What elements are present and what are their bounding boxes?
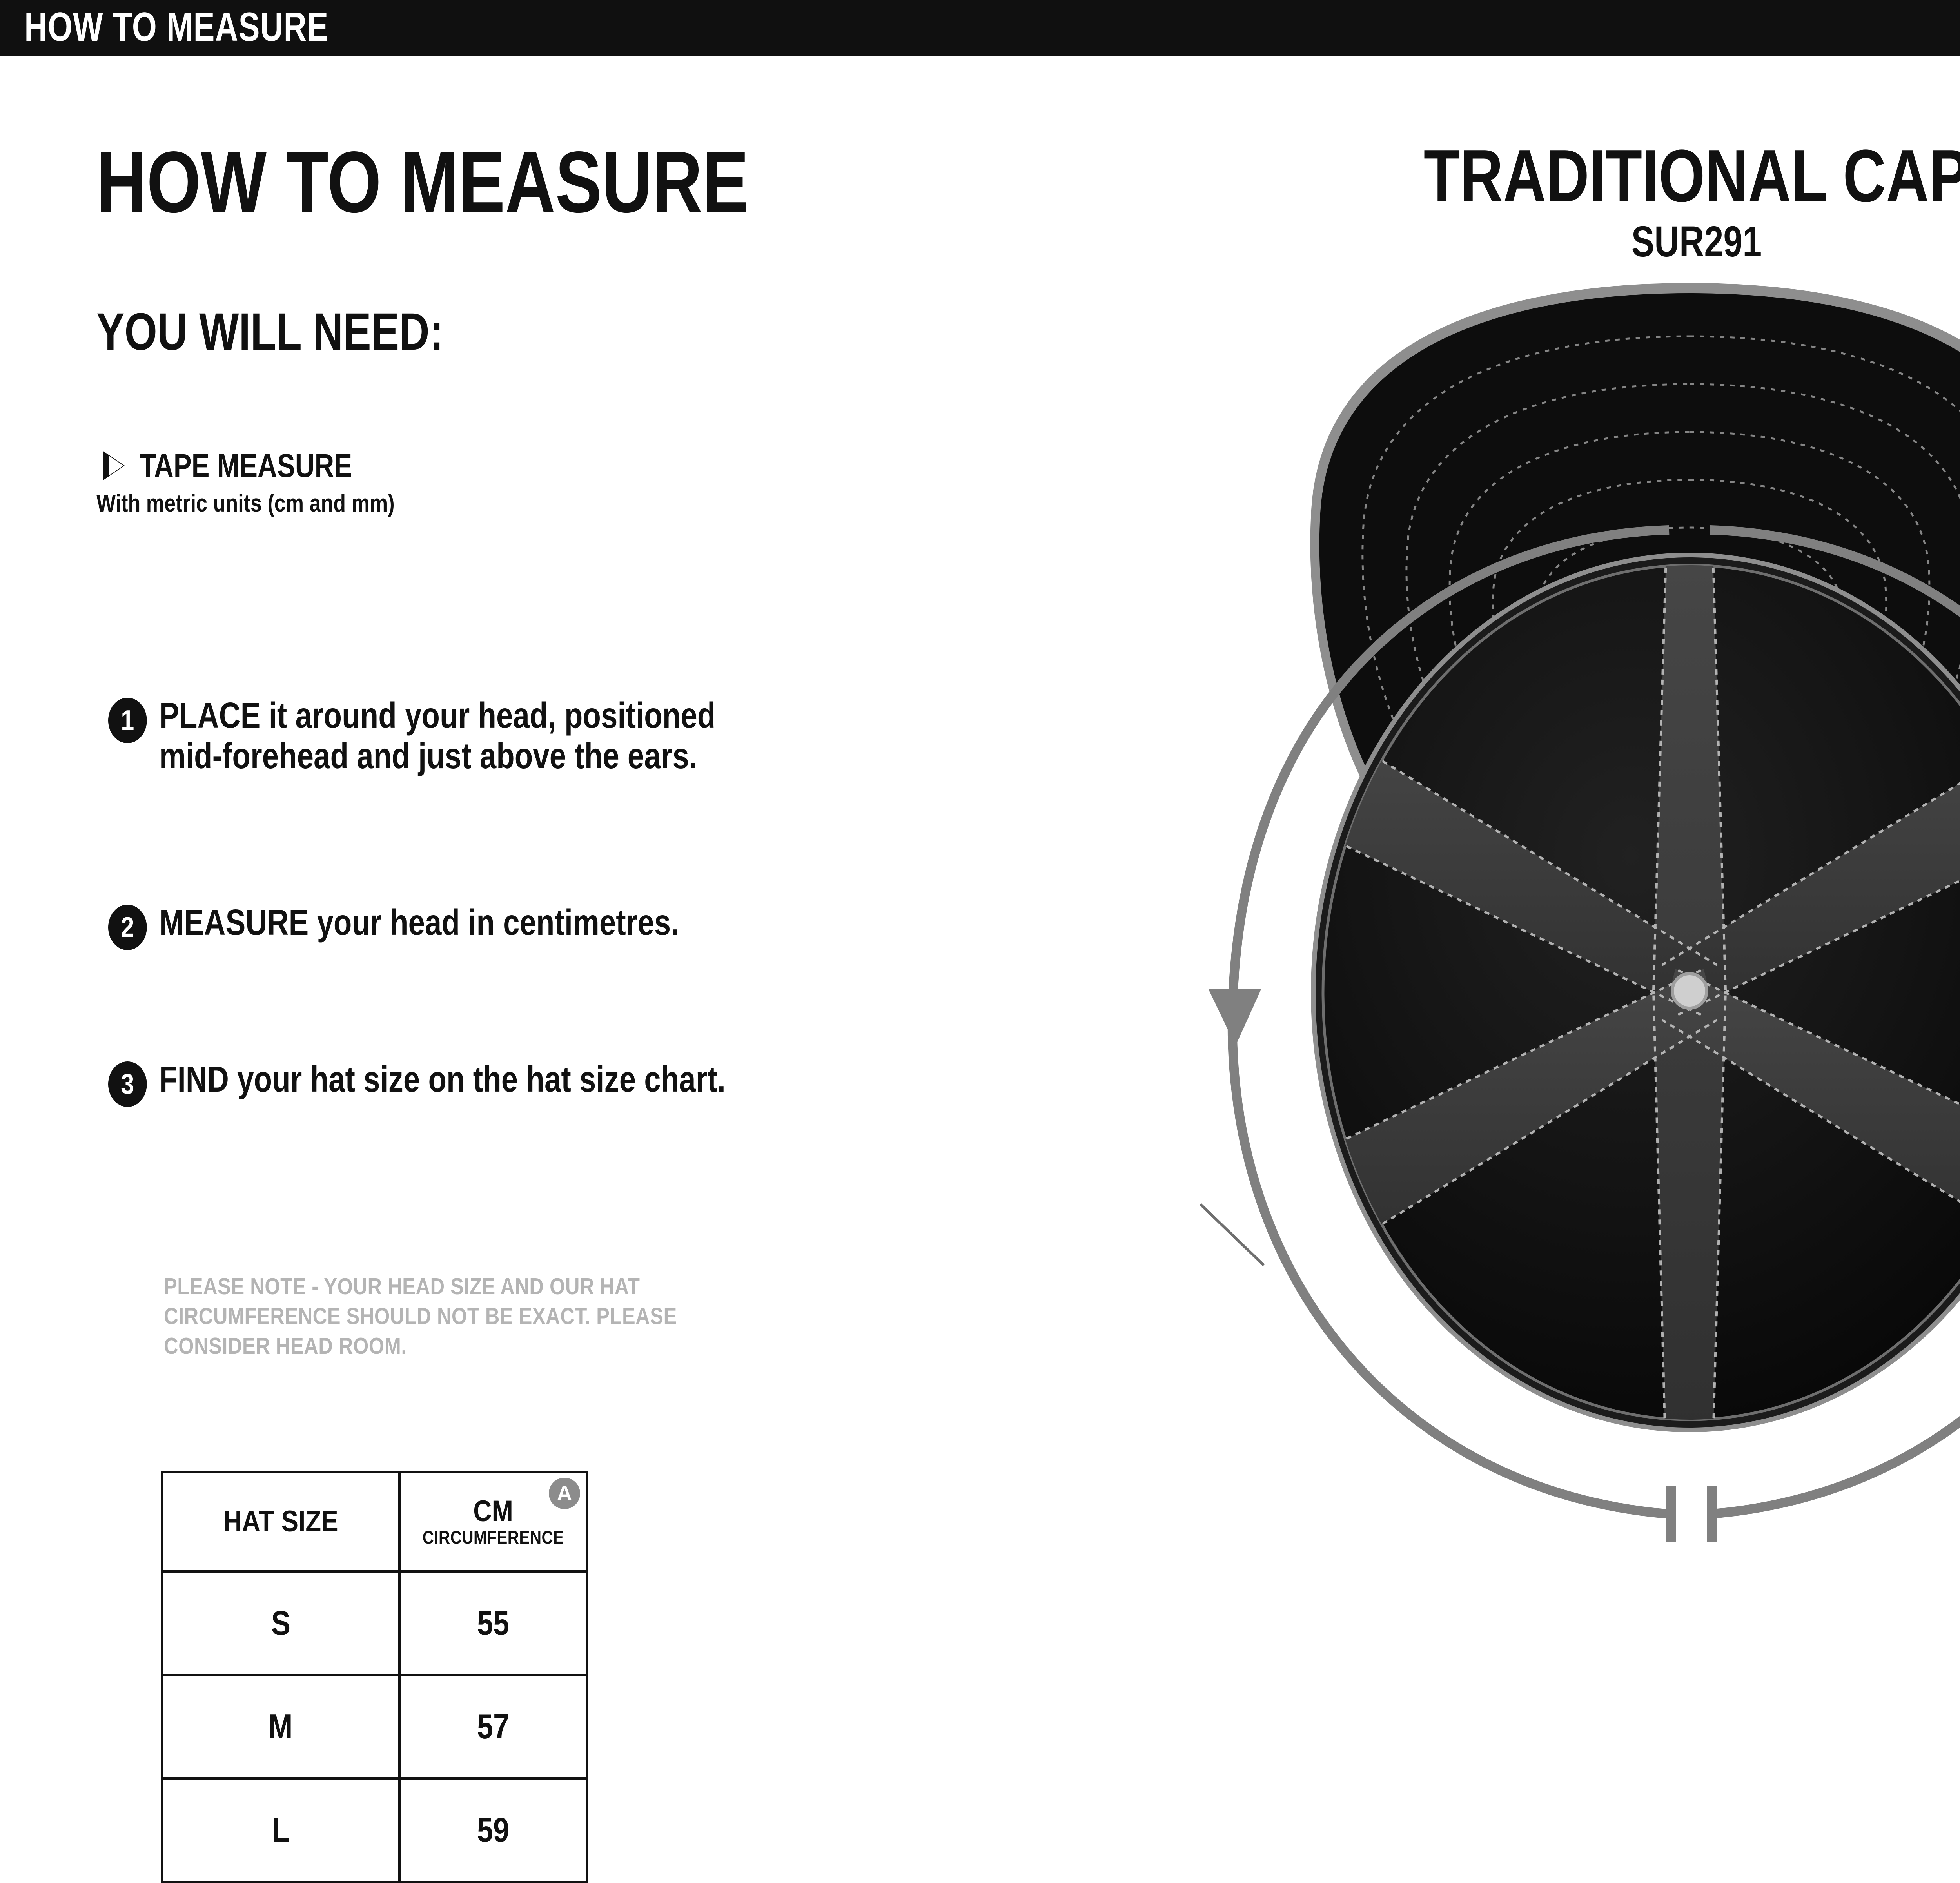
value-cm-s: 55 <box>477 1605 509 1641</box>
product-title: TRADITIONAL CAP <box>1078 139 1960 213</box>
you-will-need-heading: YOU WILL NEED: <box>96 306 443 358</box>
step-2-text: MEASURE your head in centimetres. <box>159 902 764 943</box>
top-bar-title: HOW TO MEASURE <box>24 7 329 47</box>
step-3-number: 3 <box>108 1061 147 1107</box>
cell-cm-m: 57 <box>399 1675 587 1778</box>
step-3-text: FIND your hat size on the hat size chart… <box>159 1059 764 1099</box>
instructions-column: HOW TO MEASURE YOU WILL NEED: TAPE MEASU… <box>0 56 1078 1827</box>
crown-button <box>1674 975 1705 1007</box>
table-header-row: HAT SIZE CM CIRCUMFERENCE A <box>162 1472 587 1571</box>
page-title: HOW TO MEASURE <box>96 139 749 226</box>
value-size-m: M <box>269 1709 293 1744</box>
measurement-end-ticks <box>1671 1486 1712 1542</box>
cell-size-l: L <box>162 1778 399 1882</box>
need-item-sublabel: With metric units (cm and mm) <box>96 492 395 516</box>
value-size-l: L <box>272 1812 289 1848</box>
step-1-number: 1 <box>108 698 147 743</box>
table-row: L 59 <box>162 1778 587 1882</box>
cell-cm-l: 59 <box>399 1778 587 1882</box>
product-code: SUR291 <box>1078 220 1960 263</box>
step-2-number: 2 <box>108 905 147 950</box>
product-code-text: SUR291 <box>1631 220 1762 263</box>
cell-cm-s: 55 <box>399 1571 587 1675</box>
cell-size-s: S <box>162 1571 399 1675</box>
need-item-label: TAPE MEASURE <box>140 449 352 482</box>
header-hat-size-label: HAT SIZE <box>223 1506 338 1537</box>
value-size-s: S <box>271 1605 290 1641</box>
cap-top-view-diagram <box>1054 259 1960 1820</box>
table-row: M 57 <box>162 1675 587 1778</box>
product-title-text: TRADITIONAL CAP <box>1424 139 1960 213</box>
measurement-badge-a: A <box>549 1478 580 1509</box>
header-cell-hat-size: HAT SIZE <box>162 1472 399 1571</box>
header-cell-cm: CM CIRCUMFERENCE A <box>399 1472 587 1571</box>
table-row: S 55 <box>162 1571 587 1675</box>
header-circumference-label: CIRCUMFERENCE <box>422 1527 564 1547</box>
disclaimer-note: PLEASE NOTE - YOUR HEAD SIZE AND OUR HAT… <box>164 1272 737 1361</box>
triangle-right-icon-inner <box>109 456 123 475</box>
leader-line <box>1200 1204 1264 1265</box>
step-1-text: PLACE it around your head, positioned mi… <box>159 695 764 776</box>
value-cm-m: 57 <box>477 1709 509 1744</box>
cell-size-m: M <box>162 1675 399 1778</box>
value-cm-l: 59 <box>477 1812 509 1848</box>
hat-size-chart: HAT SIZE CM CIRCUMFERENCE A S 55 M 57 L … <box>161 1471 588 1883</box>
top-bar: HOW TO MEASURE SURRIDGE <box>0 0 1960 56</box>
product-diagram-column: TRADITIONAL CAP SUR291 <box>1078 56 1960 1827</box>
header-cm-label: CM <box>473 1496 513 1527</box>
